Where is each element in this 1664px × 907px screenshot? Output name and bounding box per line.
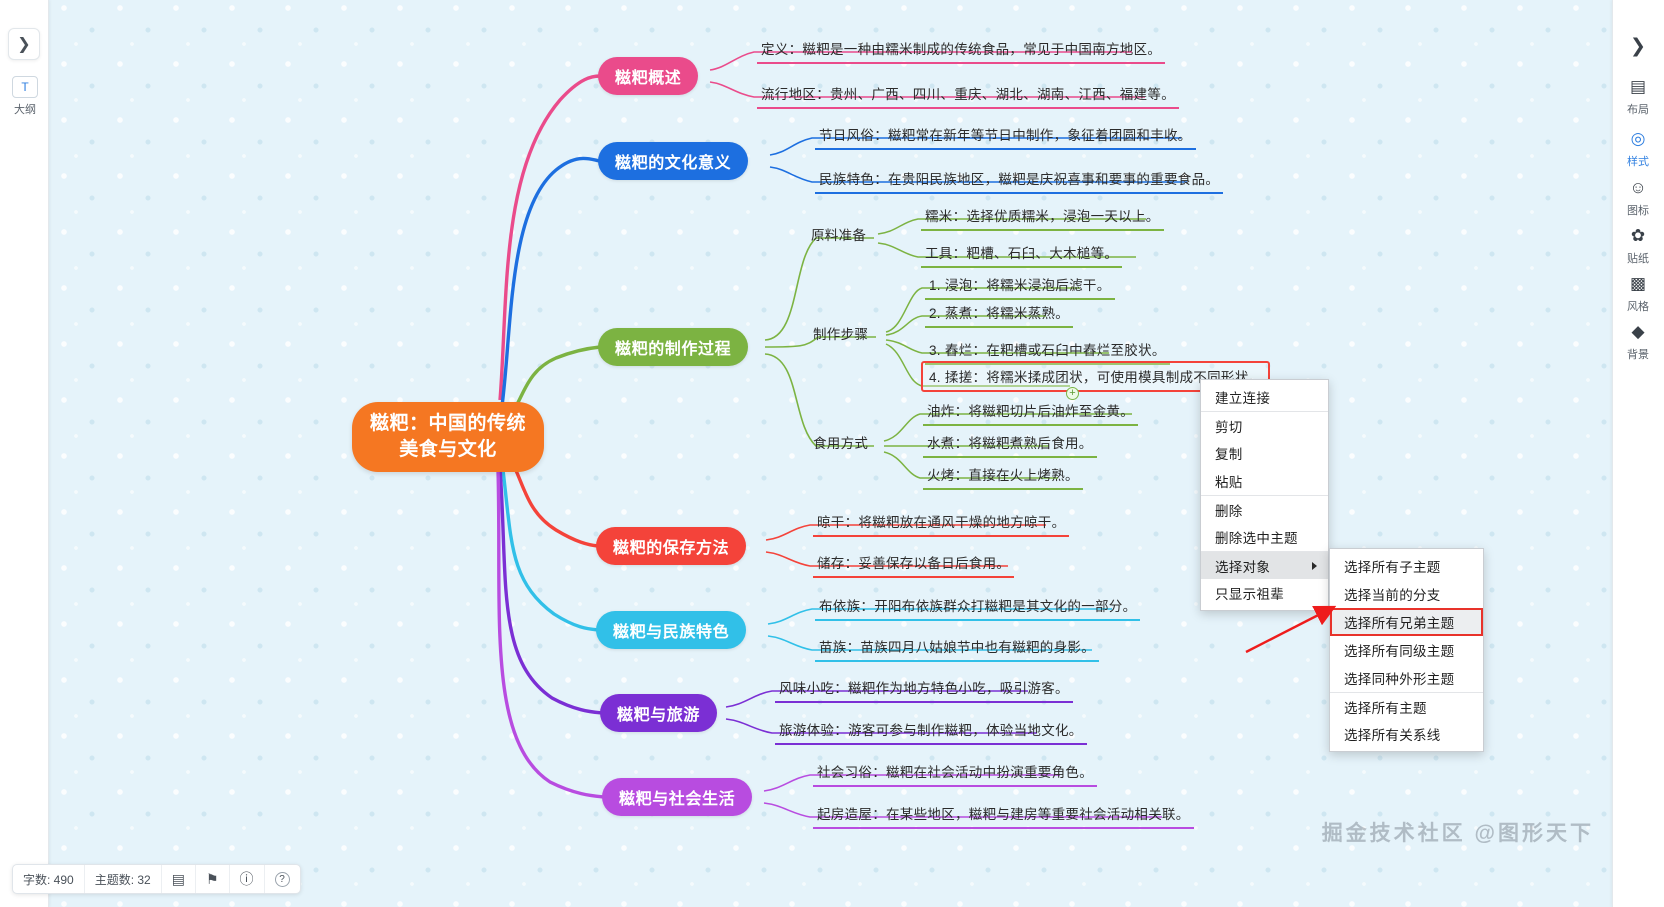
- leaf-label: 工具：粑槽、石臼、大木槌等。: [925, 246, 1118, 261]
- leaf-node-3-0[interactable]: 晾干：将糍粑放在通风干燥的地方晾干。: [813, 509, 1069, 537]
- context-menu-item-select-object[interactable]: 选择对象: [1201, 551, 1328, 579]
- help-button[interactable]: ?: [265, 865, 300, 893]
- branch-node-1[interactable]: 糍粑的文化意义: [598, 142, 748, 180]
- help-icon: ?: [275, 872, 290, 887]
- branch-node-4[interactable]: 糍粑与民族特色: [596, 611, 746, 649]
- leaf-label: 油炸：将糍粑切片后油炸至金黄。: [927, 404, 1134, 419]
- leaf-node-5-0[interactable]: 风味小吃：糍粑作为地方特色小吃，吸引游客。: [775, 675, 1073, 703]
- leaf-node-2-1-0[interactable]: 1. 浸泡：将糯米浸泡后滤干。: [925, 272, 1115, 300]
- leaf-label: 2. 蒸煮：将糯米蒸熟。: [929, 306, 1069, 321]
- submenu-item-select-all-siblings[interactable]: 选择所有兄弟主题: [1330, 608, 1483, 636]
- leaf-label: 糯米：选择优质糯米，浸泡一天以上。: [925, 209, 1160, 224]
- leaf-label: 苗族：苗族四月八姑娘节中也有糍粑的身影。: [819, 640, 1095, 655]
- chevron-right-icon: ❯: [17, 34, 30, 54]
- leaf-label: 3. 舂烂：在粑槽或石臼中舂烂至胶状。: [929, 343, 1166, 358]
- leaf-label: 流行地区：贵州、广西、四川、重庆、湖北、湖南、江西、福建等。: [761, 87, 1175, 102]
- status-bar: 字数: 490 主题数: 32 ▤ ⚑ ⓘ ?: [12, 864, 301, 894]
- branch-node-4-label: 糍粑与民族特色: [613, 618, 729, 642]
- context-menu-item-create-link[interactable]: 建立连接: [1201, 383, 1328, 411]
- sidebar-item-sticker-label: 贴纸: [1627, 250, 1649, 266]
- leaf-node-2-2-1[interactable]: 水煮：将糍粑煮熟后食用。: [923, 430, 1097, 458]
- chevron-right-icon: ❯: [1630, 35, 1646, 58]
- leaf-label: 晾干：将糍粑放在通风干燥的地方晾干。: [817, 515, 1065, 530]
- leaf-label: 社会习俗：糍粑在社会活动中扮演重要角色。: [817, 765, 1093, 780]
- context-submenu[interactable]: 选择所有子主题 选择当前的分支 选择所有兄弟主题 选择所有同级主题 选择同种外形…: [1329, 548, 1484, 752]
- branch-node-3[interactable]: 糍粑的保存方法: [596, 527, 746, 565]
- flag-icon: ⚑: [206, 871, 219, 888]
- sidebar-item-style-label: 样式: [1627, 153, 1649, 169]
- right-sidebar: ❯ ▤ 布局 ◎ 样式 ☺ 图标 ✿ 贴纸 ▩ 风格 ◆ 背景: [1612, 0, 1664, 907]
- menu-item-label: 复制: [1215, 443, 1243, 463]
- leaf-label: 起房造屋：在某些地区，糍粑与建房等重要社会活动相关联。: [817, 807, 1190, 822]
- sidebar-item-icon-label: 图标: [1627, 202, 1649, 218]
- leaf-label: 风味小吃：糍粑作为地方特色小吃，吸引游客。: [779, 681, 1069, 696]
- leaf-node-1-0[interactable]: 节日风俗：糍粑常在新年等节日中制作，象征着团圆和丰收。: [815, 122, 1196, 150]
- flag-button[interactable]: ⚑: [196, 865, 230, 893]
- root-node[interactable]: 糍粑：中国的传统美食与文化: [352, 402, 544, 472]
- menu-item-label: 剪切: [1215, 416, 1243, 436]
- leaf-label: 节日风俗：糍粑常在新年等节日中制作，象征着团圆和丰收。: [819, 128, 1192, 143]
- menu-item-label: 删除选中主题: [1215, 527, 1298, 547]
- menu-item-label: 选择所有关系线: [1344, 724, 1441, 744]
- leaf-node-5-1[interactable]: 旅游体验：游客可参与制作糍粑，体验当地文化。: [775, 717, 1087, 745]
- leaf-node-3-1[interactable]: 储存：妥善保存以备日后食用。: [813, 550, 1014, 578]
- branch-node-2-label: 糍粑的制作过程: [615, 335, 731, 359]
- leaf-label: 储存：妥善保存以备日后食用。: [817, 556, 1010, 571]
- submenu-item-select-current-branch[interactable]: 选择当前的分支: [1330, 580, 1483, 608]
- group-label: 食用方式: [813, 436, 868, 451]
- background-icon: ◆: [1626, 320, 1650, 344]
- leaf-node-1-1[interactable]: 民族特色：在贵阳民族地区，糍粑是庆祝喜事和要事的重要食品。: [815, 166, 1223, 194]
- context-menu-item-copy[interactable]: 复制: [1201, 439, 1328, 467]
- menu-item-label: 选择同种外形主题: [1344, 668, 1454, 688]
- root-node-label: 糍粑：中国的传统美食与文化: [366, 411, 530, 462]
- branch-node-5[interactable]: 糍粑与旅游: [600, 694, 717, 732]
- branch-node-3-label: 糍粑的保存方法: [613, 534, 729, 558]
- menu-item-label: 粘贴: [1215, 471, 1243, 491]
- sidebar-item-theme[interactable]: ▩ 风格: [1618, 272, 1658, 314]
- leaf-node-2-2-2[interactable]: 火烤：直接在火上烤熟。: [923, 462, 1083, 490]
- menu-item-label: 删除: [1215, 500, 1243, 520]
- style-icon: ◎: [1626, 127, 1650, 151]
- context-menu-item-delete[interactable]: 删除: [1201, 495, 1328, 523]
- leaf-label: 旅游体验：游客可参与制作糍粑，体验当地文化。: [779, 723, 1083, 738]
- group-label: 原料准备: [811, 228, 866, 243]
- collapse-sidebar-button[interactable]: ❯: [1621, 29, 1655, 63]
- leaf-node-2-0-1[interactable]: 工具：粑槽、石臼、大木槌等。: [921, 240, 1122, 268]
- branch-node-6[interactable]: 糍粑与社会生活: [602, 778, 752, 816]
- leaf-label: 火烤：直接在火上烤熟。: [927, 468, 1079, 483]
- branch-node-2[interactable]: 糍粑的制作过程: [598, 328, 748, 366]
- menu-item-label: 建立连接: [1215, 387, 1270, 407]
- leaf-node-0-1[interactable]: 流行地区：贵州、广西、四川、重庆、湖北、湖南、江西、福建等。: [757, 81, 1179, 109]
- submenu-item-select-same-shape[interactable]: 选择同种外形主题: [1330, 664, 1483, 692]
- group-node-2-0[interactable]: 原料准备: [808, 222, 869, 248]
- branch-node-0-label: 糍粑概述: [615, 64, 681, 88]
- sidebar-item-layout[interactable]: ▤ 布局: [1618, 75, 1658, 117]
- note-icon: ▤: [172, 871, 185, 888]
- leaf-node-2-2-0[interactable]: 油炸：将糍粑切片后油炸至金黄。: [923, 398, 1138, 426]
- leaf-node-6-1[interactable]: 起房造屋：在某些地区，糍粑与建房等重要社会活动相关联。: [813, 801, 1194, 829]
- submenu-item-select-all-topics[interactable]: 选择所有主题: [1330, 692, 1483, 720]
- info-icon: ⓘ: [240, 869, 254, 889]
- group-node-2-1[interactable]: 制作步骤: [810, 321, 871, 347]
- submenu-item-select-all-relations[interactable]: 选择所有关系线: [1330, 720, 1483, 748]
- sidebar-item-style[interactable]: ◎ 样式: [1618, 127, 1658, 169]
- leaf-node-0-0[interactable]: 定义：糍粑是一种由糯米制成的传统食品，常见于中国南方地区。: [757, 36, 1165, 64]
- chevron-right-icon: [1312, 562, 1317, 570]
- leaf-node-4-0[interactable]: 布依族：开阳布依族群众打糍粑是其文化的一部分。: [815, 593, 1140, 621]
- sticker-icon: ✿: [1626, 224, 1650, 248]
- sidebar-item-background-label: 背景: [1627, 346, 1649, 362]
- theme-icon: ▩: [1626, 272, 1650, 296]
- branch-node-5-label: 糍粑与旅游: [617, 701, 700, 725]
- menu-item-label: 选择当前的分支: [1344, 584, 1441, 604]
- menu-item-label: 选择所有兄弟主题: [1344, 612, 1454, 632]
- layout-icon: ▤: [1626, 75, 1650, 99]
- sidebar-item-outline-label: 大纲: [14, 101, 36, 117]
- sidebar-item-theme-label: 风格: [1627, 298, 1649, 314]
- expand-sidebar-button[interactable]: ❯: [8, 28, 40, 60]
- menu-item-label: 选择对象: [1215, 556, 1270, 576]
- leaf-label: 民族特色：在贵阳民族地区，糍粑是庆祝喜事和要事的重要食品。: [819, 172, 1219, 187]
- sidebar-item-sticker[interactable]: ✿ 贴纸: [1618, 224, 1658, 266]
- context-menu-item-show-ancestors-only[interactable]: 只显示祖辈: [1201, 579, 1328, 607]
- group-label: 制作步骤: [813, 327, 868, 342]
- topic-count: 主题数: 32: [85, 865, 162, 893]
- menu-item-label: 选择所有子主题: [1344, 556, 1441, 576]
- mindmap-canvas[interactable]: 糍粑：中国的传统美食与文化 糍粑概述 定义：糍粑是一种由糯米制成的传统食品，常见…: [0, 0, 1664, 907]
- menu-item-label: 选择所有主题: [1344, 697, 1427, 717]
- mindmap-app: 糍粑：中国的传统美食与文化 糍粑概述 定义：糍粑是一种由糯米制成的传统食品，常见…: [0, 0, 1664, 907]
- word-count: 字数: 490: [13, 865, 85, 893]
- submenu-item-select-all-children[interactable]: 选择所有子主题: [1330, 552, 1483, 580]
- group-node-2-2[interactable]: 食用方式: [810, 430, 871, 456]
- leaf-node-6-0[interactable]: 社会习俗：糍粑在社会活动中扮演重要角色。: [813, 759, 1097, 787]
- branch-node-6-label: 糍粑与社会生活: [619, 785, 735, 809]
- watermark: 掘金技术社区 @图形天下: [1322, 817, 1594, 847]
- leaf-node-2-1-1[interactable]: 2. 蒸煮：将糯米蒸熟。: [925, 300, 1073, 328]
- outline-icon: T: [12, 76, 38, 98]
- leaf-label: 1. 浸泡：将糯米浸泡后滤干。: [929, 278, 1111, 293]
- menu-item-label: 选择所有同级主题: [1344, 640, 1454, 660]
- context-menu[interactable]: 建立连接 剪切 复制 粘贴 删除 删除选中主题 选择对象 只显示祖辈: [1200, 379, 1329, 611]
- leaf-node-2-0-0[interactable]: 糯米：选择优质糯米，浸泡一天以上。: [921, 203, 1164, 231]
- menu-item-label: 只显示祖辈: [1215, 583, 1284, 603]
- leaf-label: 定义：糍粑是一种由糯米制成的传统食品，常见于中国南方地区。: [761, 42, 1161, 57]
- leaf-label: 布依族：开阳布依族群众打糍粑是其文化的一部分。: [819, 599, 1136, 614]
- leaf-label: 水煮：将糍粑煮熟后食用。: [927, 436, 1093, 451]
- branch-node-1-label: 糍粑的文化意义: [615, 149, 731, 173]
- emoji-icon: ☺: [1626, 176, 1650, 200]
- context-menu-item-cut[interactable]: 剪切: [1201, 411, 1328, 439]
- sidebar-item-icon[interactable]: ☺ 图标: [1618, 176, 1658, 218]
- context-menu-item-delete-selected-topic[interactable]: 删除选中主题: [1201, 523, 1328, 551]
- left-sidebar: ❯ T 大纲: [0, 0, 49, 907]
- sidebar-item-layout-label: 布局: [1627, 101, 1649, 117]
- branch-node-0[interactable]: 糍粑概述: [598, 57, 698, 95]
- info-button[interactable]: ⓘ: [230, 865, 265, 893]
- note-button[interactable]: ▤: [162, 865, 196, 893]
- leaf-node-4-1[interactable]: 苗族：苗族四月八姑娘节中也有糍粑的身影。: [815, 634, 1099, 662]
- context-menu-item-paste[interactable]: 粘贴: [1201, 467, 1328, 495]
- sidebar-item-outline[interactable]: T 大纲: [6, 76, 44, 117]
- submenu-item-select-all-same-level[interactable]: 选择所有同级主题: [1330, 636, 1483, 664]
- sidebar-item-background[interactable]: ◆ 背景: [1618, 320, 1658, 362]
